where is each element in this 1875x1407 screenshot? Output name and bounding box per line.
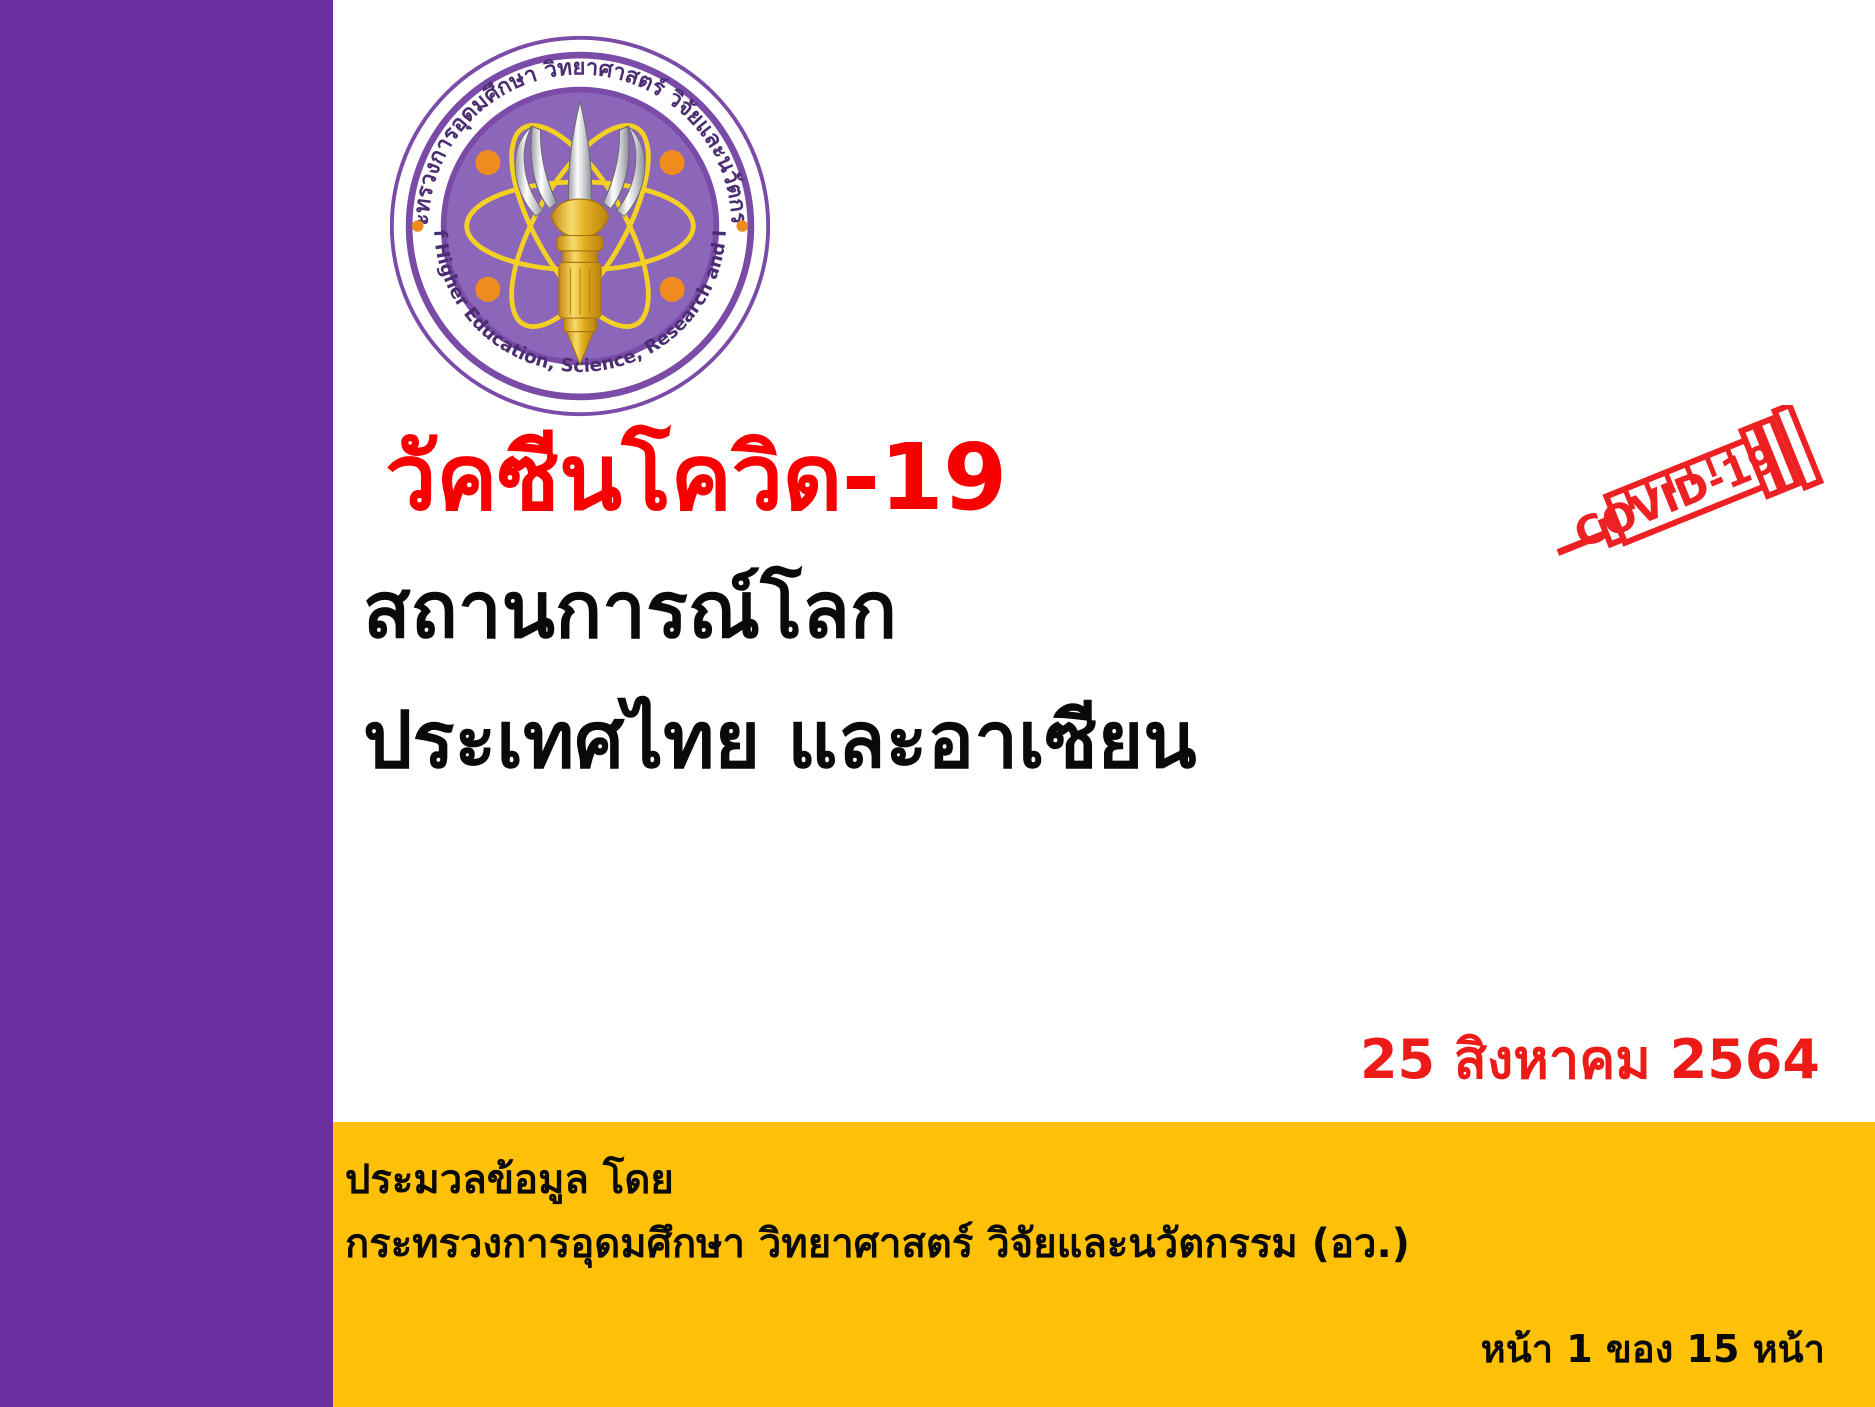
covid-19-stamp-label: COVID-19: [1568, 435, 1784, 558]
headline-row: วัคซีนโควิด-19: [385, 430, 1007, 527]
page-title: วัคซีนโควิด-19: [385, 430, 1007, 527]
page-indicator: หน้า 1 ของ 15 หน้า: [333, 1318, 1825, 1379]
subtitle-world-situation: สถานการณ์โลก: [363, 568, 897, 655]
covid-19-syringe-stamp-icon: COVID-19: [1528, 405, 1848, 565]
ministry-logo: กระทรวงการอุดมศึกษา วิทยาศาสตร์ วิจัยและ…: [388, 34, 772, 418]
title-block: วัคซีนโควิด-19: [333, 430, 1875, 1110]
slide-canvas: กระทรวงการอุดมศึกษา วิทยาศาสตร์ วิจัยและ…: [0, 0, 1875, 1407]
credit-organization: กระทรวงการอุดมศึกษา วิทยาศาสตร์ วิจัยและ…: [345, 1219, 1825, 1269]
left-purple-band: [0, 0, 333, 1407]
credit-label: ประมวลข้อมูล โดย: [345, 1155, 1825, 1205]
report-date: 25 สิงหาคม 2564: [333, 1016, 1820, 1102]
credit-block: ประมวลข้อมูล โดย กระทรวงการอุดมศึกษา วิท…: [345, 1155, 1825, 1269]
subtitle-thailand-asean: ประเทศไทย และอาเซียน: [363, 698, 1197, 785]
